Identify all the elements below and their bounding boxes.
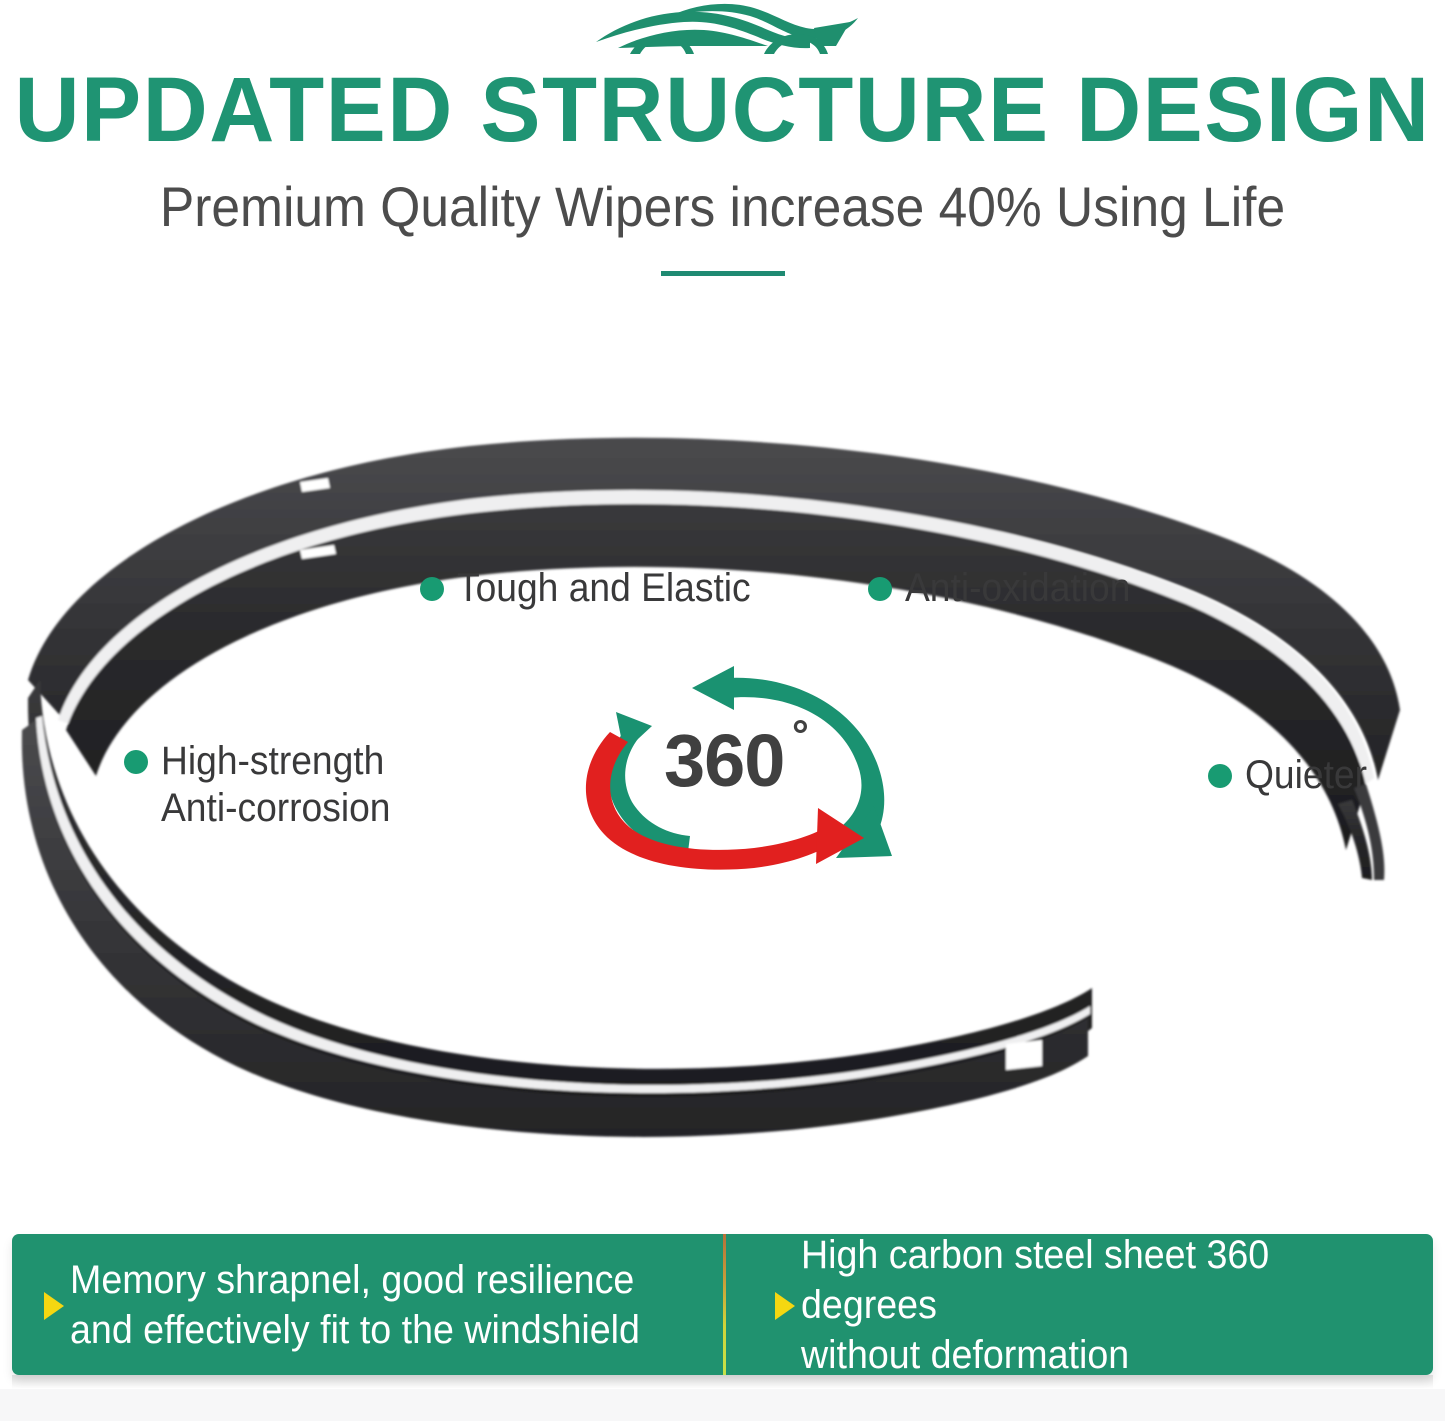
bullet-dot-icon: [124, 750, 148, 774]
title-underline-rule: [661, 271, 785, 276]
banner-column-memory-shrapnel: Memory shrapnel, good resilience and eff…: [12, 1234, 723, 1375]
feature-high-strength-anti-corrosion: High-strength Anti-corrosion: [124, 738, 408, 832]
feature-anti-oxidation: Anti-oxidation: [868, 565, 1147, 612]
feature-label: High-strength: [161, 738, 390, 785]
360-degree-badge: 360 °: [574, 660, 914, 870]
feature-tough-and-elastic: Tough and Elastic: [420, 565, 773, 612]
banner-line-1: High carbon steel sheet 360 degrees: [801, 1230, 1396, 1330]
bottom-feature-banner: Memory shrapnel, good resilience and eff…: [12, 1234, 1433, 1375]
play-triangle-icon: [44, 1292, 64, 1320]
feature-label-line2: Anti-corrosion: [161, 785, 390, 832]
banner-line-2: and effectively fit to the windshield: [70, 1305, 640, 1355]
feature-label: Quieter: [1245, 752, 1367, 799]
banner-column-high-carbon-steel: High carbon steel sheet 360 degrees with…: [723, 1234, 1434, 1375]
banner-line-2: without deformation: [801, 1330, 1396, 1380]
bullet-dot-icon: [1208, 764, 1232, 788]
feature-quieter: Quieter: [1208, 752, 1376, 799]
banner-line-1: Memory shrapnel, good resilience: [70, 1255, 640, 1305]
banner-drop-shadow: [12, 1375, 1433, 1389]
bullet-dot-icon: [420, 577, 444, 601]
car-silhouette-icon: [578, 2, 878, 60]
page-title: UPDATED STRUCTURE DESIGN: [14, 62, 1430, 158]
badge-value: 360: [664, 722, 784, 800]
banner-text-block: High carbon steel sheet 360 degrees with…: [801, 1230, 1396, 1380]
bullet-dot-icon: [868, 577, 892, 601]
play-triangle-icon: [775, 1292, 795, 1320]
banner-text-block: Memory shrapnel, good resilience and eff…: [70, 1255, 640, 1355]
badge-degree-symbol: °: [792, 714, 809, 756]
product-infographic-page: UPDATED STRUCTURE DESIGN Premium Quality…: [0, 0, 1445, 1421]
page-subtitle: Premium Quality Wipers increase 40% Usin…: [58, 176, 1387, 238]
footer-background: [0, 1389, 1445, 1421]
feature-label: Tough and Elastic: [457, 565, 751, 612]
feature-label: Anti-oxidation: [905, 565, 1130, 612]
